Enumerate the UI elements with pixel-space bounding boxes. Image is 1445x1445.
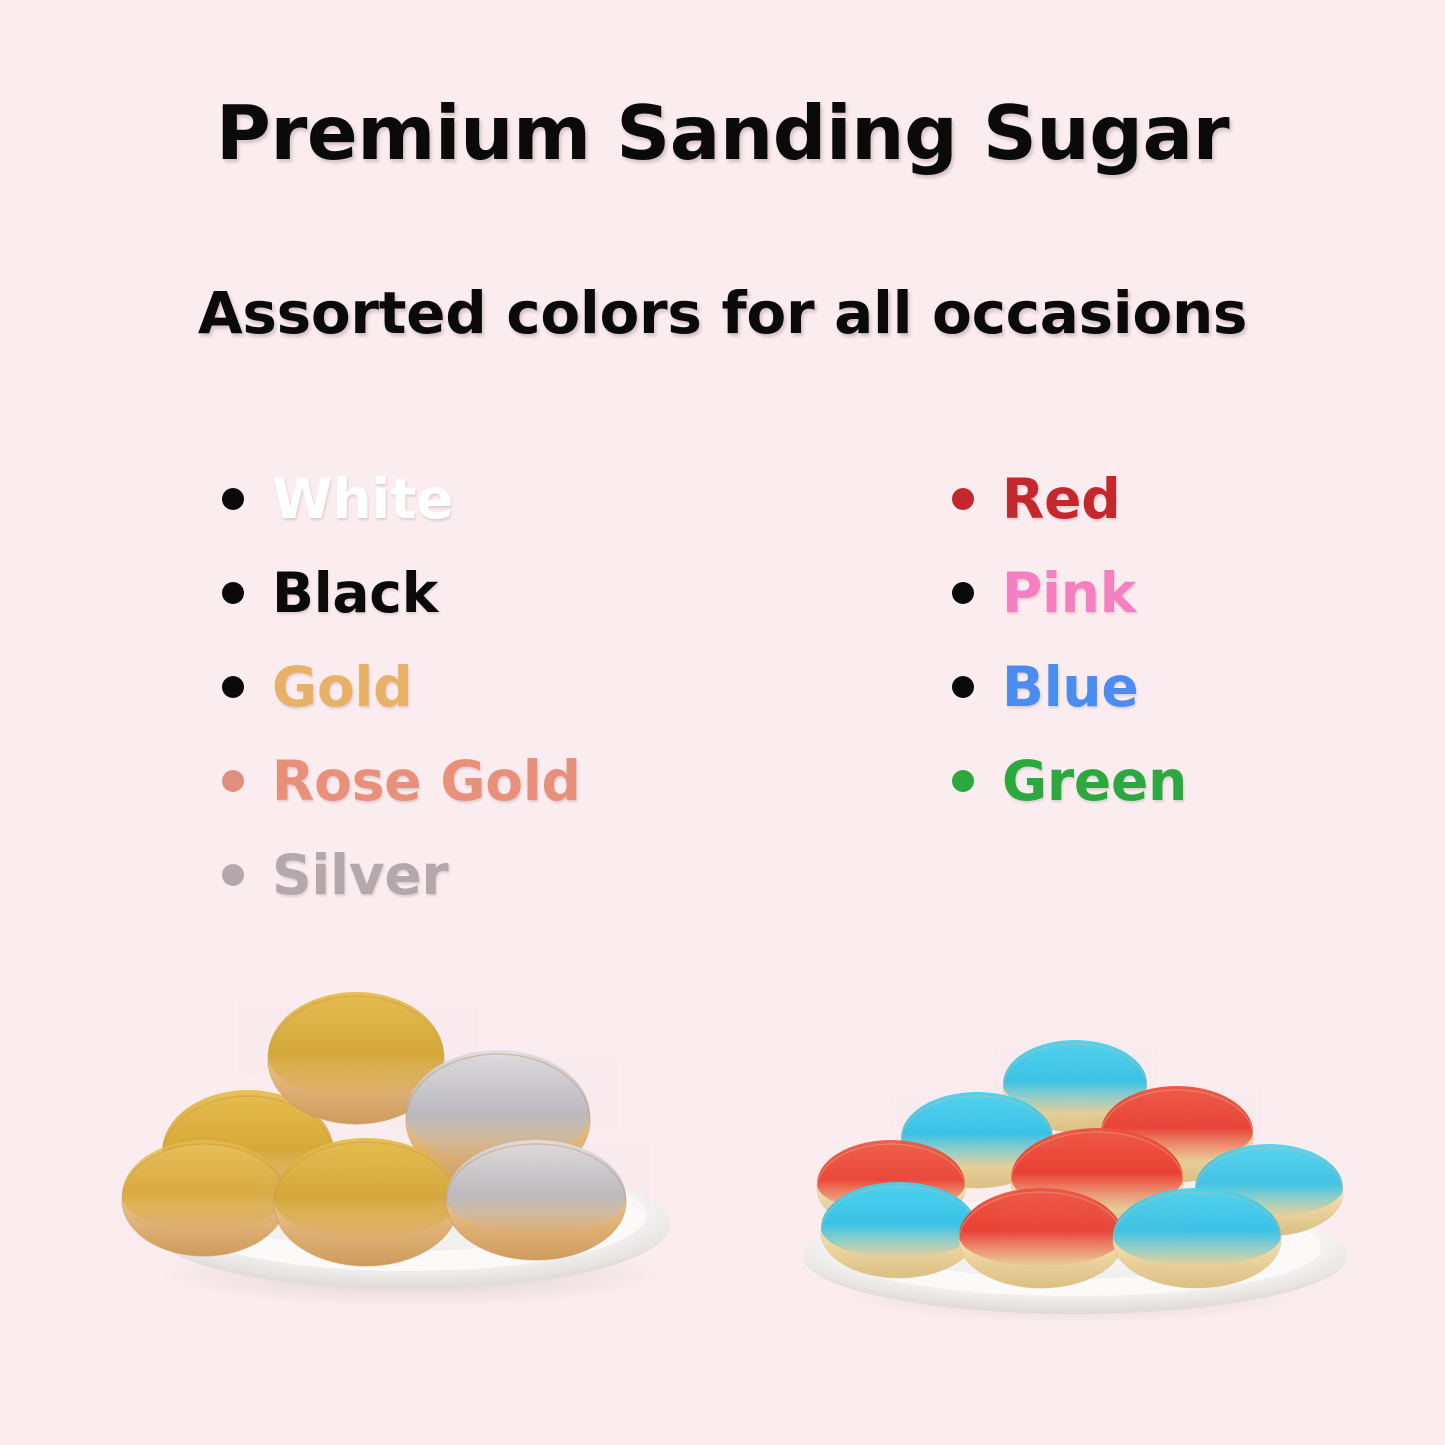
page-subtitle: Assorted colors for all occasions: [0, 284, 1445, 342]
bullet-icon: [222, 770, 244, 792]
color-label: Black: [272, 566, 438, 621]
color-item-pink: Pink: [952, 546, 1432, 640]
bullet-icon: [222, 488, 244, 510]
color-label: Gold: [272, 660, 412, 715]
red-and-blue-sugar-cookies-plate: [745, 1024, 1405, 1324]
color-item-rose-gold: Rose Gold: [222, 734, 742, 828]
color-item-green: Green: [952, 734, 1432, 828]
color-item-black: Black: [222, 546, 742, 640]
color-list-right: Red Pink Blue Green: [952, 452, 1432, 828]
color-item-silver: Silver: [222, 828, 742, 922]
color-label: Silver: [272, 848, 448, 903]
infographic-canvas: Premium Sanding Sugar Assorted colors fo…: [0, 0, 1445, 1445]
color-label: White: [272, 472, 453, 527]
bullet-icon: [952, 582, 974, 604]
color-item-red: Red: [952, 452, 1432, 546]
color-item-gold: Gold: [222, 640, 742, 734]
bullet-icon: [222, 676, 244, 698]
color-item-blue: Blue: [952, 640, 1432, 734]
bullet-icon: [952, 488, 974, 510]
color-label: Rose Gold: [272, 754, 581, 809]
color-list-left: White Black Gold Rose Gold Silver: [222, 452, 742, 922]
gold-and-silver-sugar-cookies-plate: [78, 952, 738, 1312]
color-options: White Black Gold Rose Gold Silver: [0, 452, 1445, 922]
color-item-white: White: [222, 452, 742, 546]
bullet-icon: [952, 770, 974, 792]
bullet-icon: [222, 864, 244, 886]
bullet-icon: [222, 582, 244, 604]
bullet-icon: [952, 676, 974, 698]
page-title: Premium Sanding Sugar: [0, 96, 1445, 171]
color-label: Blue: [1002, 660, 1138, 715]
color-label: Pink: [1002, 566, 1136, 621]
color-label: Green: [1002, 754, 1187, 809]
color-label: Red: [1002, 472, 1120, 527]
